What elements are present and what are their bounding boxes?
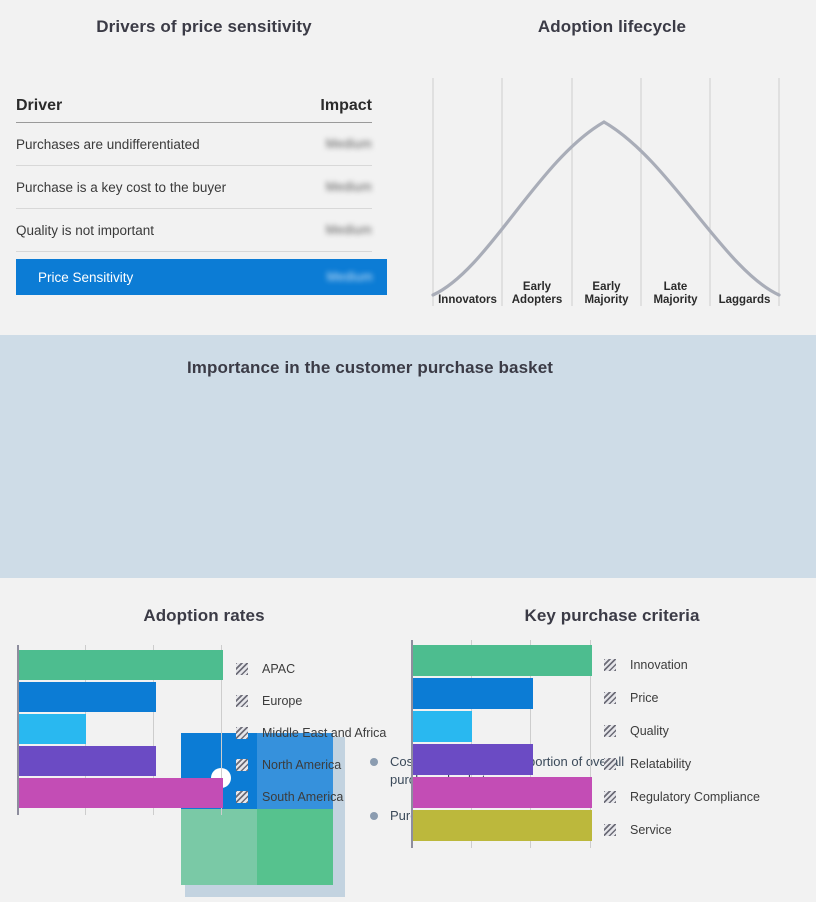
lifecycle-stage-labels: Innovators Early Adopters Early Majority… xyxy=(408,275,816,315)
key-criteria-legend: InnovationPriceQualityRelatabilityRegula… xyxy=(604,648,804,846)
legend-item[interactable]: Service xyxy=(604,813,804,846)
legend-item[interactable]: North America xyxy=(236,749,406,781)
legend-label: North America xyxy=(262,758,341,772)
legend-item[interactable]: Middle East and Africa xyxy=(236,717,406,749)
hatch-swatch-icon xyxy=(604,692,616,704)
drivers-panel: Drivers of price sensitivity Driver Impa… xyxy=(0,0,408,335)
impact-value: Medium xyxy=(326,137,372,151)
stage-label-laggards: Laggards xyxy=(710,294,779,307)
hatch-swatch-icon xyxy=(604,758,616,770)
bar-middle-east-and-africa[interactable] xyxy=(19,714,86,744)
adoption-rates-panel: Adoption rates APACEuropeMiddle East and… xyxy=(0,578,408,902)
legend-item[interactable]: Regulatory Compliance xyxy=(604,780,804,813)
legend-label: Price xyxy=(630,691,658,705)
hatch-swatch-icon xyxy=(236,791,248,803)
adoption-rates-legend: APACEuropeMiddle East and AfricaNorth Am… xyxy=(236,653,406,813)
drivers-title: Drivers of price sensitivity xyxy=(0,17,408,37)
adoption-lifecycle-title: Adoption lifecycle xyxy=(408,17,816,37)
hatch-swatch-icon xyxy=(604,791,616,803)
stage-label-late-majority: Late Majority xyxy=(641,281,710,307)
legend-label: Middle East and Africa xyxy=(262,726,386,740)
column-header-impact: Impact xyxy=(320,97,372,115)
bar-service[interactable] xyxy=(413,810,592,841)
bar-regulatory-compliance[interactable] xyxy=(413,777,592,808)
legend-item[interactable]: Price xyxy=(604,681,804,714)
bar-price[interactable] xyxy=(413,678,533,709)
legend-label: South America xyxy=(262,790,343,804)
bar-quality[interactable] xyxy=(413,711,472,742)
importance-title: Importance in the customer purchase bask… xyxy=(0,358,740,378)
hatch-swatch-icon xyxy=(604,824,616,836)
impact-value: Medium xyxy=(326,223,372,237)
stage-label-early-majority: Early Majority xyxy=(572,281,641,307)
legend-item[interactable]: South America xyxy=(236,781,406,813)
hatch-swatch-icon xyxy=(236,695,248,707)
legend-label: Quality xyxy=(630,724,669,738)
lifecycle-curve-svg xyxy=(408,70,816,310)
driver-name: Quality is not important xyxy=(16,223,154,238)
hatch-swatch-icon xyxy=(604,725,616,737)
key-criteria-title: Key purchase criteria xyxy=(408,606,816,626)
adoption-lifecycle-panel: Adoption lifecycle Innovators Early Adop… xyxy=(408,0,816,335)
legend-label: Europe xyxy=(262,694,302,708)
bar-north-america[interactable] xyxy=(19,746,156,776)
importance-panel: Importance in the customer purchase bask… xyxy=(0,335,816,578)
legend-item[interactable]: Quality xyxy=(604,714,804,747)
adoption-rates-title: Adoption rates xyxy=(0,606,408,626)
table-row-selected-price-sensitivity[interactable]: Price Sensitivity Medium xyxy=(16,259,387,295)
impact-value: Medium xyxy=(327,270,373,284)
bar-south-america[interactable] xyxy=(19,778,223,808)
adoption-rates-chart xyxy=(17,645,223,835)
bar-innovation[interactable] xyxy=(413,645,592,676)
table-row[interactable]: Purchase is a key cost to the buyer Medi… xyxy=(16,166,372,209)
legend-item[interactable]: Relatability xyxy=(604,747,804,780)
driver-name: Price Sensitivity xyxy=(38,270,133,285)
bar-europe[interactable] xyxy=(19,682,156,712)
table-row[interactable]: Purchases are undifferentiated Medium xyxy=(16,123,372,166)
hatch-swatch-icon xyxy=(236,759,248,771)
lifecycle-gridlines xyxy=(433,78,779,306)
stage-label-early-adopters: Early Adopters xyxy=(502,281,572,307)
bar-relatability[interactable] xyxy=(413,744,533,775)
legend-item[interactable]: APAC xyxy=(236,653,406,685)
column-header-driver: Driver xyxy=(16,97,62,115)
hatch-swatch-icon xyxy=(604,659,616,671)
stage-label-innovators: Innovators xyxy=(433,294,502,307)
adoption-lifecycle-chart: Innovators Early Adopters Early Majority… xyxy=(408,70,816,310)
table-row[interactable]: Quality is not important Medium xyxy=(16,209,372,252)
legend-label: Service xyxy=(630,823,672,837)
key-criteria-panel: Key purchase criteria InnovationPriceQua… xyxy=(408,578,816,902)
adoption-bell-curve xyxy=(433,122,779,295)
driver-name: Purchase is a key cost to the buyer xyxy=(16,180,226,195)
legend-item[interactable]: Innovation xyxy=(604,648,804,681)
hatch-swatch-icon xyxy=(236,663,248,675)
drivers-table: Driver Impact Purchases are undifferenti… xyxy=(16,90,372,252)
legend-item[interactable]: Europe xyxy=(236,685,406,717)
legend-label: Innovation xyxy=(630,658,688,672)
table-header-row: Driver Impact xyxy=(16,90,372,123)
legend-label: Regulatory Compliance xyxy=(630,790,760,804)
key-criteria-chart xyxy=(411,640,591,868)
driver-name: Purchases are undifferentiated xyxy=(16,137,200,152)
hatch-swatch-icon xyxy=(236,727,248,739)
impact-value: Medium xyxy=(326,180,372,194)
legend-label: APAC xyxy=(262,662,295,676)
bar-apac[interactable] xyxy=(19,650,223,680)
legend-label: Relatability xyxy=(630,757,691,771)
